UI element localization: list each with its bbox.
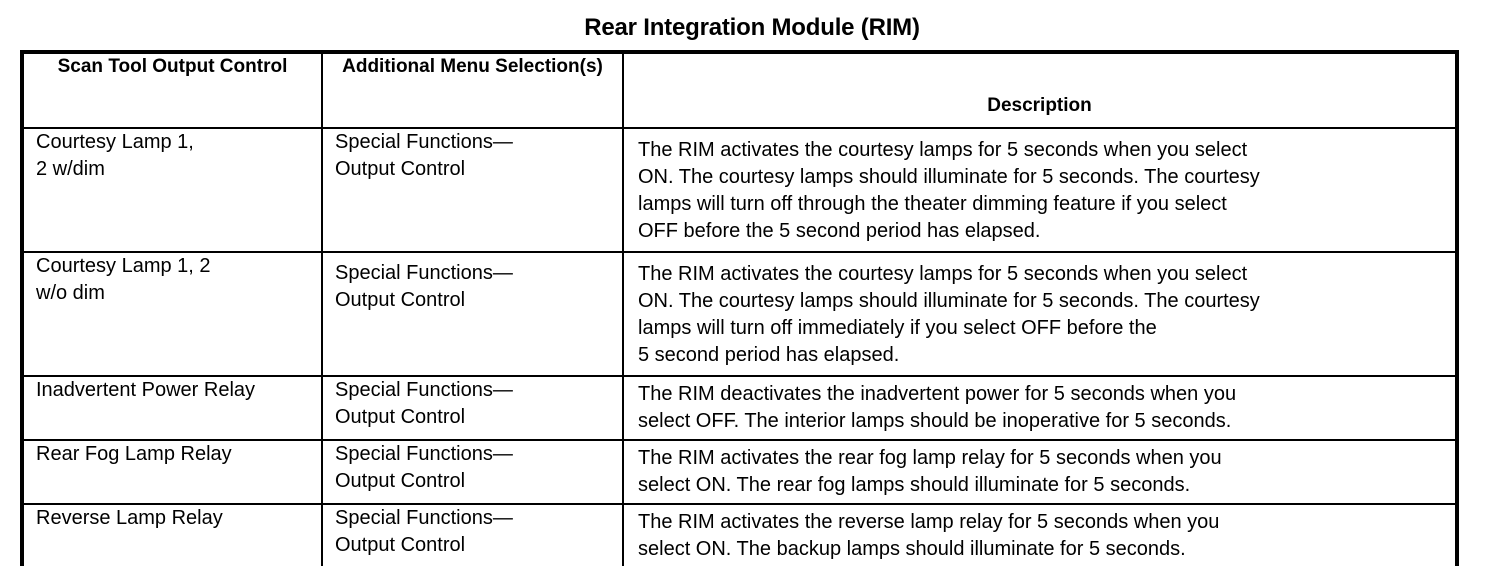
cell-scan-tool-output-control: Inadvertent Power Relay [22, 376, 322, 440]
additional-menu-selections-text: Special Functions— Output Control [323, 253, 622, 314]
table-row: Courtesy Lamp 1, 2 w/o dim Special Funct… [22, 252, 1457, 376]
additional-menu-selections-text: Special Functions— Output Control [323, 505, 622, 559]
scan-tool-output-control-text: Rear Fog Lamp Relay [24, 441, 321, 468]
cell-scan-tool-output-control: Courtesy Lamp 1, 2 w/dim [22, 128, 322, 252]
table-row: Inadvertent Power Relay Special Function… [22, 376, 1457, 440]
scan-tool-output-control-text: Inadvertent Power Relay [24, 377, 321, 404]
table-body: Courtesy Lamp 1, 2 w/dim Special Functio… [22, 128, 1457, 566]
document-page: Rear Integration Module (RIM) Scan Tool … [0, 0, 1504, 566]
cell-scan-tool-output-control: Rear Fog Lamp Relay [22, 440, 322, 504]
column-header-description: Description [623, 52, 1457, 128]
description-text: The RIM activates the courtesy lamps for… [624, 129, 1455, 251]
cell-additional-menu-selections: Special Functions— Output Control [322, 252, 623, 376]
table-row: Courtesy Lamp 1, 2 w/dim Special Functio… [22, 128, 1457, 252]
column-header-additional-menu-selections: Additional Menu Selection(s) [322, 52, 623, 128]
table-header: Scan Tool Output Control Additional Menu… [22, 52, 1457, 128]
description-text: The RIM deactivates the inadvertent powe… [624, 377, 1455, 439]
cell-additional-menu-selections: Special Functions— Output Control [322, 504, 623, 566]
cell-description: The RIM activates the courtesy lamps for… [623, 128, 1457, 252]
scan-tool-output-control-text: Courtesy Lamp 1, 2 w/o dim [24, 253, 321, 307]
additional-menu-selections-text: Special Functions— Output Control [323, 129, 622, 183]
column-header-scan-tool-output-control: Scan Tool Output Control [22, 52, 322, 128]
additional-menu-selections-text: Special Functions— Output Control [323, 377, 622, 431]
cell-description: The RIM activates the rear fog lamp rela… [623, 440, 1457, 504]
additional-menu-selections-text: Special Functions— Output Control [323, 441, 622, 495]
cell-additional-menu-selections: Special Functions— Output Control [322, 128, 623, 252]
description-text: The RIM activates the rear fog lamp rela… [624, 441, 1455, 503]
cell-description: The RIM activates the reverse lamp relay… [623, 504, 1457, 566]
table-row: Reverse Lamp Relay Special Functions— Ou… [22, 504, 1457, 566]
rim-table-container: Scan Tool Output Control Additional Menu… [20, 50, 1455, 566]
scan-tool-output-control-text: Courtesy Lamp 1, 2 w/dim [24, 129, 321, 183]
description-text: The RIM activates the courtesy lamps for… [624, 253, 1455, 375]
scan-tool-output-control-text: Reverse Lamp Relay [24, 505, 321, 532]
rim-output-control-table: Scan Tool Output Control Additional Menu… [20, 50, 1459, 566]
table-row: Rear Fog Lamp Relay Special Functions— O… [22, 440, 1457, 504]
description-text: The RIM activates the reverse lamp relay… [624, 505, 1455, 566]
cell-description: The RIM deactivates the inadvertent powe… [623, 376, 1457, 440]
table-header-row: Scan Tool Output Control Additional Menu… [22, 52, 1457, 128]
cell-scan-tool-output-control: Courtesy Lamp 1, 2 w/o dim [22, 252, 322, 376]
page-title: Rear Integration Module (RIM) [0, 14, 1504, 42]
cell-additional-menu-selections: Special Functions— Output Control [322, 376, 623, 440]
cell-additional-menu-selections: Special Functions— Output Control [322, 440, 623, 504]
cell-description: The RIM activates the courtesy lamps for… [623, 252, 1457, 376]
cell-scan-tool-output-control: Reverse Lamp Relay [22, 504, 322, 566]
